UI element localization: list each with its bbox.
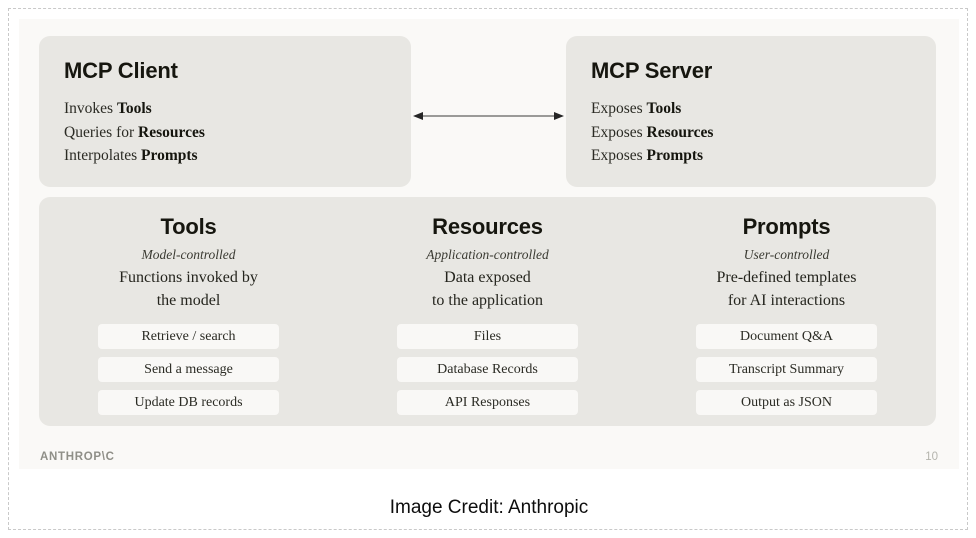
mcp-client-line-2-prefix: Queries for: [64, 124, 138, 141]
column-tools-chip-list: Retrieve / search Send a message Update …: [98, 324, 279, 415]
mcp-server-line-2-strong: Resources: [647, 124, 714, 141]
slide-page-number: 10: [925, 451, 938, 463]
chip-document-qa[interactable]: Document Q&A: [696, 324, 877, 349]
anthropic-logo: ANTHROP\C: [40, 451, 115, 463]
mcp-server-line-1: Exposes Tools: [591, 97, 936, 121]
column-prompts-description: Pre-defined templates for AI interaction…: [717, 267, 857, 312]
column-prompts-description-line-2: for AI interactions: [717, 290, 857, 313]
mcp-server-line-2: Exposes Resources: [591, 121, 936, 145]
column-tools-description-line-2: the model: [119, 290, 258, 313]
column-resources-chip-list: Files Database Records API Responses: [397, 324, 578, 415]
chip-send-a-message[interactable]: Send a message: [98, 357, 279, 382]
column-prompts-description-line-1: Pre-defined templates: [717, 267, 857, 290]
mcp-client-card: MCP Client Invokes Tools Queries for Res…: [39, 36, 411, 187]
mcp-client-line-3-prefix: Interpolates: [64, 147, 141, 164]
mcp-primitives-panel: Tools Model-controlled Functions invoked…: [39, 197, 936, 426]
column-prompts-chip-list: Document Q&A Transcript Summary Output a…: [696, 324, 877, 415]
column-tools-title: Tools: [160, 214, 216, 240]
column-resources-subtitle: Application-controlled: [426, 247, 548, 263]
mcp-client-line-2: Queries for Resources: [64, 121, 411, 145]
double-headed-arrow-icon: [411, 105, 566, 127]
mcp-client-line-3-strong: Prompts: [141, 147, 198, 164]
column-tools-subtitle: Model-controlled: [142, 247, 236, 263]
chip-database-records[interactable]: Database Records: [397, 357, 578, 382]
column-tools-description-line-1: Functions invoked by: [119, 267, 258, 290]
mcp-client-line-1-prefix: Invokes: [64, 100, 117, 117]
mcp-server-line-3: Exposes Prompts: [591, 144, 936, 168]
chip-retrieve-search[interactable]: Retrieve / search: [98, 324, 279, 349]
column-tools-description: Functions invoked by the model: [119, 267, 258, 312]
column-resources-description-line-1: Data exposed: [432, 267, 543, 290]
chip-transcript-summary[interactable]: Transcript Summary: [696, 357, 877, 382]
chip-update-db-records[interactable]: Update DB records: [98, 390, 279, 415]
chip-output-as-json[interactable]: Output as JSON: [696, 390, 877, 415]
mcp-client-line-3: Interpolates Prompts: [64, 144, 411, 168]
mcp-client-title: MCP Client: [64, 58, 411, 84]
mcp-server-card: MCP Server Exposes Tools Exposes Resourc…: [566, 36, 936, 187]
mcp-server-title: MCP Server: [591, 58, 936, 84]
image-credit-caption: Image Credit: Anthropic: [9, 497, 969, 519]
column-resources-description: Data exposed to the application: [432, 267, 543, 312]
chip-api-responses[interactable]: API Responses: [397, 390, 578, 415]
mcp-client-line-1: Invokes Tools: [64, 97, 411, 121]
column-resources-title: Resources: [432, 214, 543, 240]
mcp-server-line-3-strong: Prompts: [647, 147, 704, 164]
column-resources-description-line-2: to the application: [432, 290, 543, 313]
slide-frame: MCP Client Invokes Tools Queries for Res…: [8, 8, 968, 530]
mcp-server-line-1-prefix: Exposes: [591, 100, 647, 117]
mcp-server-line-3-prefix: Exposes: [591, 147, 647, 164]
column-prompts-title: Prompts: [743, 214, 831, 240]
client-server-connector: [411, 105, 566, 127]
column-resources: Resources Application-controlled Data ex…: [338, 197, 637, 426]
mcp-client-line-1-strong: Tools: [117, 100, 152, 117]
mcp-client-line-2-strong: Resources: [138, 124, 205, 141]
slide-canvas: MCP Client Invokes Tools Queries for Res…: [19, 19, 959, 469]
mcp-server-line-1-strong: Tools: [647, 100, 682, 117]
column-prompts: Prompts User-controlled Pre-defined temp…: [637, 197, 936, 426]
mcp-server-line-2-prefix: Exposes: [591, 124, 647, 141]
chip-files[interactable]: Files: [397, 324, 578, 349]
column-prompts-subtitle: User-controlled: [744, 247, 829, 263]
column-tools: Tools Model-controlled Functions invoked…: [39, 197, 338, 426]
